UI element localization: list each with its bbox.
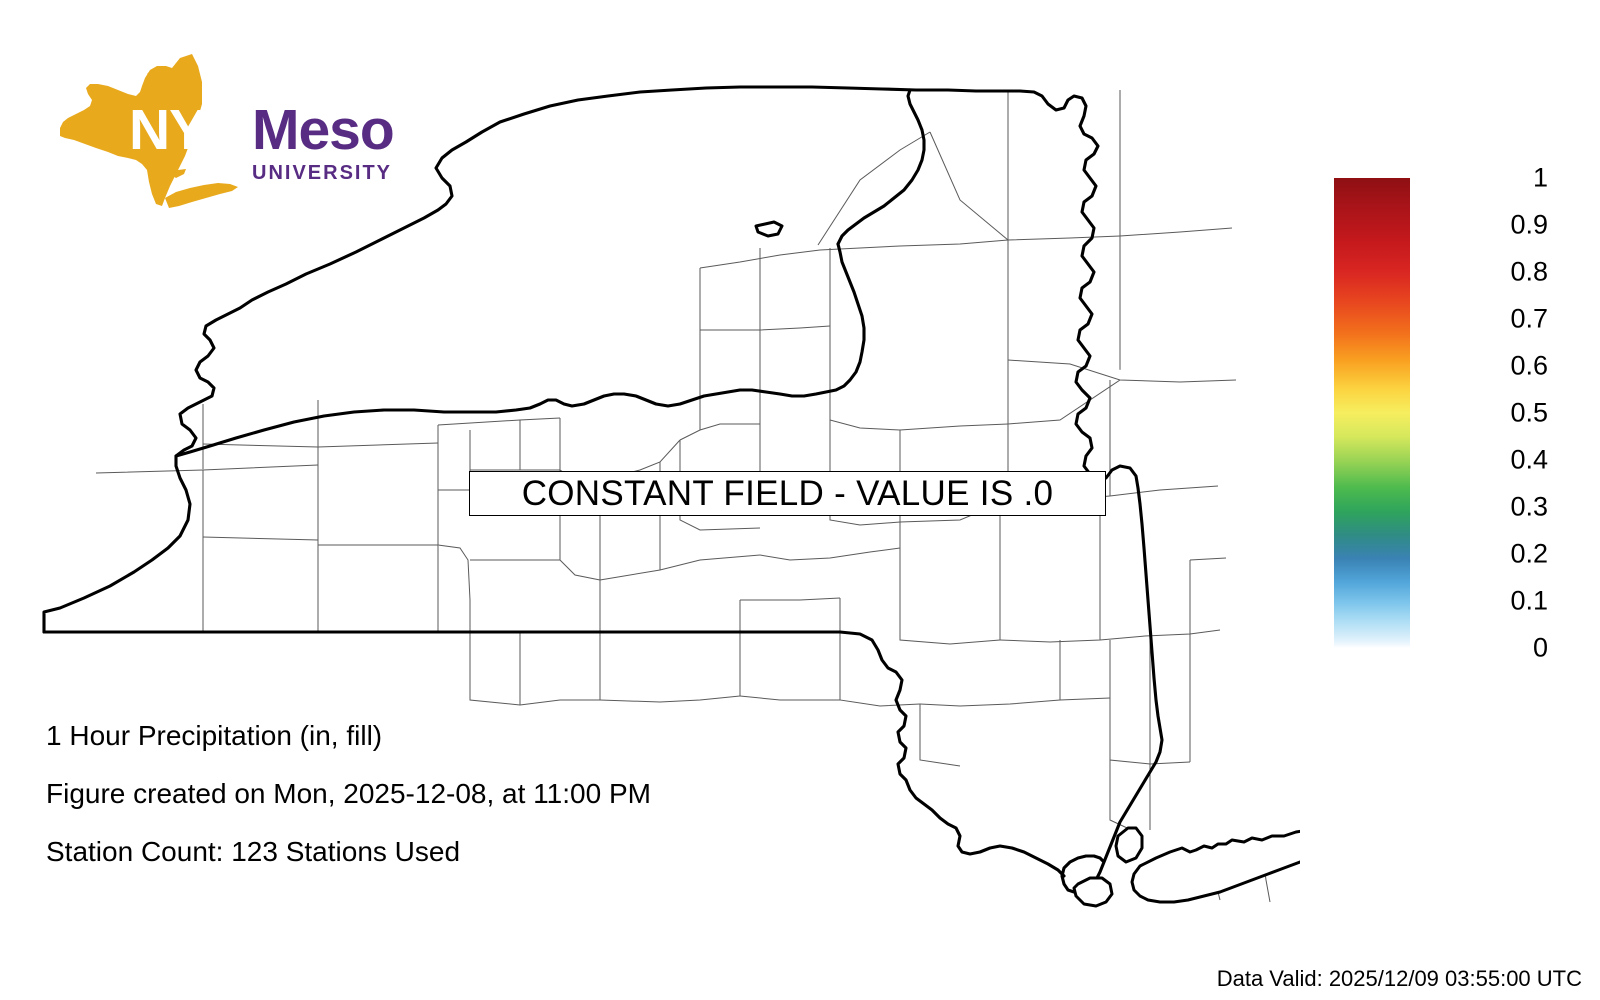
colorbar-tick-0.4: 0.4 xyxy=(1420,447,1548,474)
data-valid-timestamp: Data Valid: 2025/12/09 03:55:00 UTC xyxy=(1217,968,1582,990)
figure-caption: 1 Hour Precipitation (in, fill) Figure c… xyxy=(46,722,866,866)
lake-island xyxy=(756,222,782,236)
colorbar-tick-0.8: 0.8 xyxy=(1420,259,1548,286)
colorbar-tick-0.2: 0.2 xyxy=(1420,541,1548,568)
colorbar-tick-0.7: 0.7 xyxy=(1420,306,1548,333)
colorbar-tick-0.6: 0.6 xyxy=(1420,353,1548,380)
colorbar-tick-0.1: 0.1 xyxy=(1420,588,1548,615)
caption-created: Figure created on Mon, 2025-12-08, at 11… xyxy=(46,780,866,808)
precipitation-colorbar: 1 0.9 0.8 0.7 0.6 0.5 0.4 0.3 0.2 0.1 0 xyxy=(1334,178,1564,650)
caption-product: 1 Hour Precipitation (in, fill) xyxy=(46,722,866,750)
colorbar-tick-0: 0 xyxy=(1420,635,1548,662)
caption-stations: Station Count: 123 Stations Used xyxy=(46,838,866,866)
colorbar-tick-0.9: 0.9 xyxy=(1420,212,1548,239)
colorbar-tick-0.5: 0.5 xyxy=(1420,400,1548,427)
constant-field-banner: CONSTANT FIELD - VALUE IS .0 xyxy=(469,471,1106,516)
colorbar-tick-0.3: 0.3 xyxy=(1420,494,1548,521)
colorbar-gradient xyxy=(1334,178,1410,648)
constant-field-text: CONSTANT FIELD - VALUE IS .0 xyxy=(522,476,1054,511)
colorbar-tick-1: 1 xyxy=(1420,165,1548,192)
